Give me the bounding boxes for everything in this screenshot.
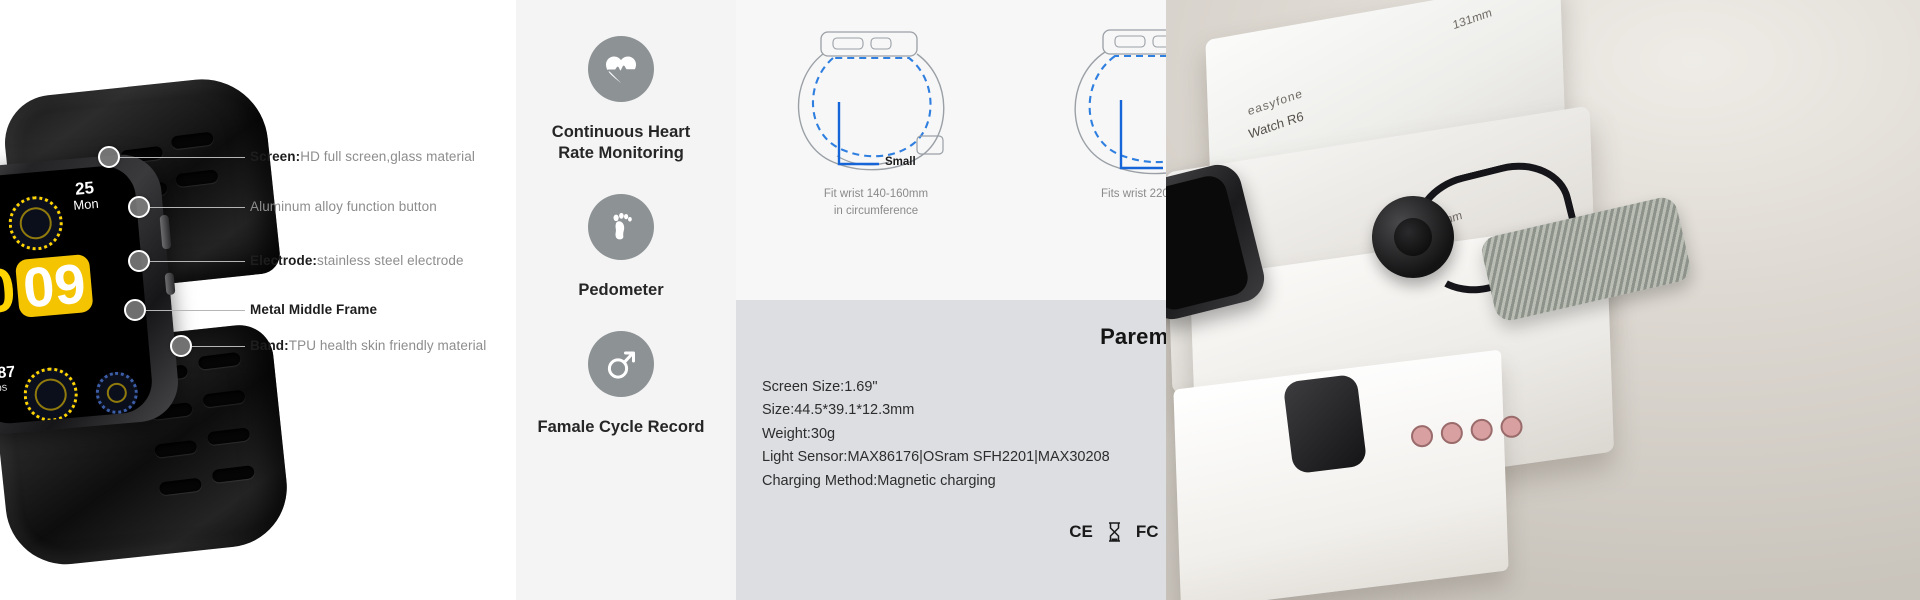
feature-spo2: 2 Spo2 Nighttime Monitoring bbox=[729, 30, 736, 164]
callout-term-screen: Screen: bbox=[250, 149, 300, 164]
hotspot-electrode[interactable] bbox=[128, 250, 150, 272]
parameters-left-column: Screen Size:1.69" Size:44.5*39.1*12.3mm … bbox=[762, 376, 1149, 493]
feature-grid: Continuous Heart Rate Monitoring 2 Spo2 … bbox=[516, 30, 736, 438]
feature-breath-training: Breath Training bbox=[729, 188, 736, 301]
parameter-row: Charging Method:Magnetic charging bbox=[762, 470, 1149, 493]
size-card-small: Small Fit wrist 140-160mm in circumferen… bbox=[736, 0, 1016, 300]
heart-rate-icon bbox=[588, 36, 654, 102]
feature-pedometer: Pedometer bbox=[516, 188, 726, 301]
product-detail-strip: 068 bpm 25 Mon 10 09 5687 steps bbox=[0, 0, 1920, 600]
size-marker-small: Small bbox=[885, 156, 916, 168]
heart-dial-icon bbox=[6, 194, 65, 253]
wrist-diagram-large: Large bbox=[1041, 16, 1166, 196]
date-weekday: Mon bbox=[73, 197, 99, 213]
size-caption-line1: Fit wrist 140-160mm bbox=[736, 186, 1016, 203]
feature-female-cycle: Famale Cycle Record bbox=[516, 325, 726, 438]
cert-fcc-icon: FC bbox=[1136, 522, 1159, 542]
callout-desc-electrode: stainless steel electrode bbox=[317, 253, 464, 268]
feature-label: Pedometer bbox=[578, 280, 663, 301]
hotspot-screen[interactable] bbox=[98, 146, 120, 168]
leader-line-button bbox=[150, 207, 245, 208]
battery-dial-icon bbox=[94, 370, 140, 416]
manual-watch-figure bbox=[1283, 374, 1368, 474]
callout-screen: Screen:HD full screen,glass material bbox=[250, 149, 475, 164]
parameter-row: Size:44.5*39.1*12.3mm bbox=[762, 399, 1149, 422]
parameter-row: Weight:30g bbox=[762, 423, 1149, 446]
callout-term-band: Band: bbox=[250, 338, 289, 353]
wrist-size-row: Small Fit wrist 140-160mm in circumferen… bbox=[736, 0, 1166, 300]
size-caption-line1: Fits wrist 220-260mm bbox=[1016, 186, 1166, 203]
cert-ce-icon: CE bbox=[1069, 522, 1093, 542]
parameters-columns: Screen Size:1.69" Size:44.5*39.1*12.3mm … bbox=[736, 350, 1166, 493]
steps-dial-icon bbox=[21, 365, 80, 424]
size-caption-small: Fit wrist 140-160mm in circumference bbox=[736, 186, 1016, 219]
parameters-block: Paremeters Screen Size:1.69" Size:44.5*3… bbox=[736, 300, 1166, 600]
callout-term-middle-frame: Metal Middle Frame bbox=[250, 302, 377, 317]
steps-tile: 5687 steps bbox=[0, 365, 17, 396]
watch-case: 068 bpm 25 Mon 10 09 5687 steps bbox=[0, 151, 181, 436]
female-gender-icon bbox=[588, 331, 654, 397]
callout-desc-button: Aluminum alloy function button bbox=[250, 199, 437, 214]
panel-product-callouts: 068 bpm 25 Mon 10 09 5687 steps bbox=[0, 0, 516, 600]
callout-middle-frame: Metal Middle Frame bbox=[250, 302, 377, 317]
certification-logos: CE FC RoHS bbox=[736, 522, 1166, 542]
leader-line-screen bbox=[120, 157, 245, 158]
callout-desc-screen: HD full screen,glass material bbox=[300, 149, 475, 164]
panel-packaging-photo: easyfone Watch R6 131mm 47mm 131mm bbox=[1166, 0, 1920, 600]
callout-desc-band: TPU health skin friendly material bbox=[289, 338, 487, 353]
cert-weee-icon bbox=[1107, 522, 1122, 542]
callout-button: Aluminum alloy function button bbox=[250, 199, 437, 214]
feature-label: Continuous Heart Rate Monitoring bbox=[536, 122, 706, 164]
panel-specifications: Small Fit wrist 140-160mm in circumferen… bbox=[736, 0, 1166, 600]
leader-line-band bbox=[192, 346, 245, 347]
hotspot-middle-frame[interactable] bbox=[124, 299, 146, 321]
steps-unit: steps bbox=[0, 381, 17, 396]
box-dimension-label-top: 131mm bbox=[1452, 5, 1493, 32]
clock-minutes: 09 bbox=[15, 253, 94, 318]
leader-line-middle-frame bbox=[146, 310, 245, 311]
callout-term-electrode: Electrode: bbox=[250, 253, 317, 268]
parameters-title: Paremeters bbox=[736, 300, 1166, 350]
size-caption-large: Fits wrist 220-260mm bbox=[1016, 186, 1166, 203]
footprint-icon bbox=[588, 194, 654, 260]
hotspot-button[interactable] bbox=[128, 196, 150, 218]
feature-heart-rate: Continuous Heart Rate Monitoring bbox=[516, 30, 726, 164]
callout-electrode: Electrode:stainless steel electrode bbox=[250, 253, 464, 268]
feature-label: Famale Cycle Record bbox=[538, 417, 705, 438]
panel-feature-grid: Continuous Heart Rate Monitoring 2 Spo2 … bbox=[516, 0, 736, 600]
clock-hours: 10 bbox=[0, 254, 16, 330]
callout-band: Band:TPU health skin friendly material bbox=[250, 338, 486, 353]
date-tile: 25 Mon bbox=[71, 179, 99, 213]
parameter-row: Screen Size:1.69" bbox=[762, 376, 1149, 399]
size-caption-line2: in circumference bbox=[736, 203, 1016, 220]
size-card-large: Large Fits wrist 220-260mm bbox=[1016, 0, 1166, 300]
function-button-lower bbox=[165, 272, 176, 295]
parameter-row: Light Sensor:MAX86176|OSram SFH2201|MAX3… bbox=[762, 446, 1149, 469]
steps-value: 5687 bbox=[0, 364, 16, 384]
wrist-diagram-small: Small bbox=[761, 16, 991, 196]
leader-line-electrode bbox=[150, 261, 245, 262]
hotspot-band[interactable] bbox=[170, 335, 192, 357]
